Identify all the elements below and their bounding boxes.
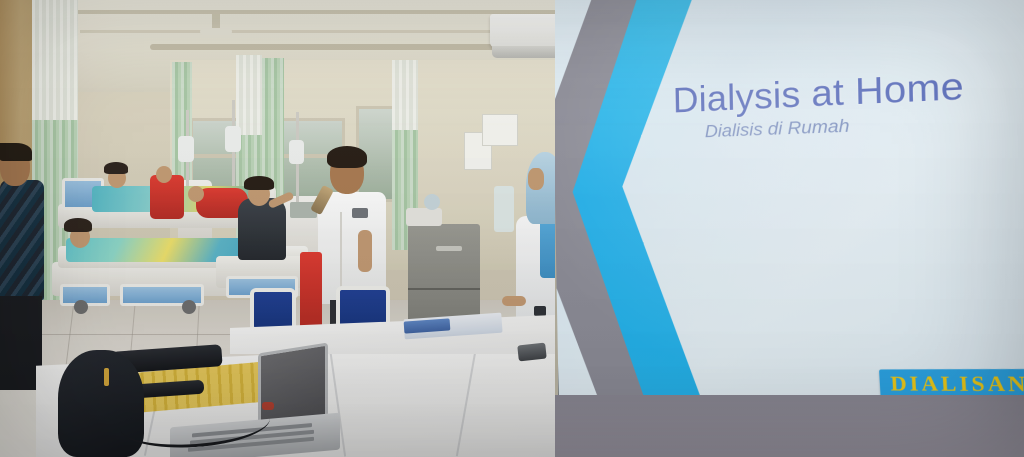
projection-wall: Dialysis at Home Dialisis di Rumah DIALI… <box>555 0 1024 457</box>
privacy-curtain-top <box>392 60 418 130</box>
presenter-hair <box>327 146 367 168</box>
wall-notice <box>482 114 518 146</box>
nurse-hand <box>502 296 526 306</box>
cable-connector <box>262 402 274 410</box>
mobile-phone[interactable] <box>517 343 547 362</box>
cupboard-seam <box>408 288 480 290</box>
photo-scene: Dialysis at Home Dialisis di Rumah DIALI… <box>0 0 1024 457</box>
privacy-curtain-top <box>32 0 78 120</box>
iv-bag <box>289 140 304 164</box>
hospital-ward <box>0 0 580 457</box>
ceiling-light <box>200 28 232 35</box>
patient-hair <box>64 218 92 232</box>
nurse-face <box>528 168 544 190</box>
iv-bag <box>178 136 194 162</box>
bed-wheel <box>182 300 196 314</box>
bed-wheel <box>74 300 88 314</box>
bystander-shirt <box>0 180 44 300</box>
wall-lower-section <box>555 395 1024 457</box>
projected-slide: Dialysis at Home Dialisis di Rumah DIALI… <box>555 0 1024 423</box>
small-monitor <box>406 208 442 226</box>
person-head <box>188 186 204 202</box>
presenter-arm <box>358 230 372 272</box>
name-badge <box>352 208 368 218</box>
patient-hair <box>244 176 274 190</box>
iv-bag <box>225 126 241 152</box>
dialisan-logo-text: DIALISAN <box>890 373 1024 397</box>
wrist-watch <box>534 306 546 316</box>
person-head <box>156 166 172 183</box>
privacy-curtain-top <box>236 55 262 135</box>
microphone-cable <box>340 212 342 294</box>
red-stool <box>300 252 322 328</box>
patient-hair <box>104 162 128 174</box>
bystander-hair <box>0 143 32 161</box>
backpack-zipper-pull <box>104 368 109 386</box>
wall-knob <box>424 194 440 210</box>
bystander-trousers <box>0 296 42 390</box>
patient-clothing <box>238 198 286 260</box>
cupboard-handle <box>436 246 462 251</box>
chair[interactable] <box>250 288 296 332</box>
hand-sanitizer-dispenser <box>494 186 514 232</box>
